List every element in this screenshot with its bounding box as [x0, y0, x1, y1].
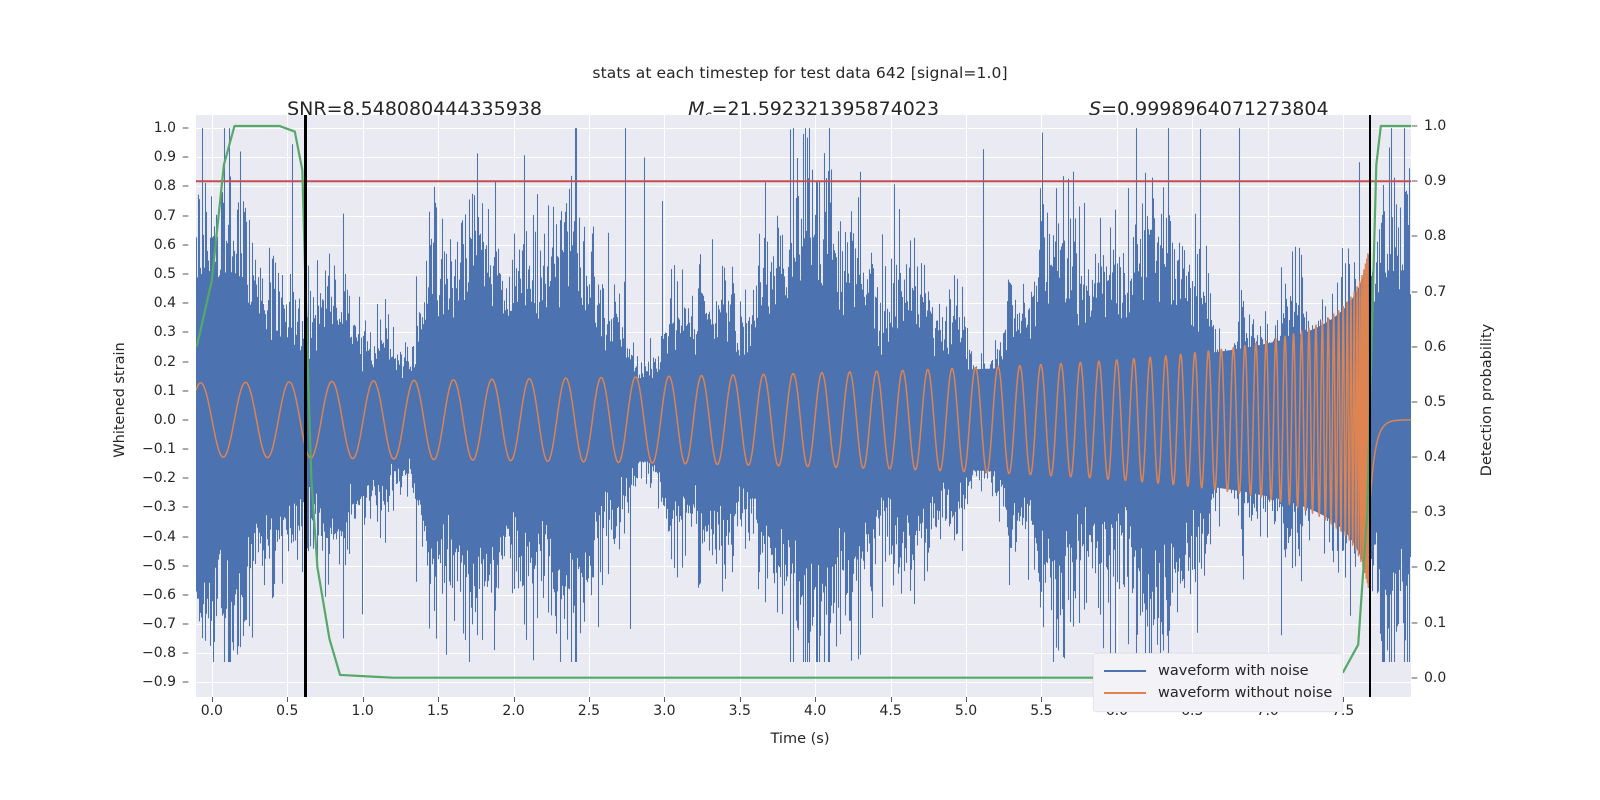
- legend-color-swatch: [1104, 692, 1146, 694]
- y-tick-label-left: 0.5–: [142, 266, 189, 282]
- y-tick-label-left: 0.7–: [142, 208, 189, 224]
- y-tick-label-left: 0.4–: [142, 295, 189, 311]
- y-axis-label-right: Detection probability: [1479, 324, 1495, 476]
- y-tick-label-right: –0.9: [1411, 173, 1446, 189]
- y-tick-label-left: −0.9–: [142, 674, 189, 690]
- x-tick-label: 3.0: [653, 703, 675, 719]
- legend-item-label: waveform with noise: [1158, 663, 1309, 679]
- y-axis-label-left: Whitened strain: [112, 342, 128, 457]
- chart-title: stats at each timestep for test data 642…: [0, 64, 1600, 82]
- y-tick-label-left: 0.6–: [142, 237, 189, 253]
- y-tick-label-left: −0.2–: [142, 470, 189, 486]
- plot-area: [196, 115, 1411, 697]
- x-tick-mark: [438, 697, 439, 702]
- x-tick-mark: [514, 697, 515, 702]
- y-tick-label-right: –0.2: [1411, 559, 1446, 575]
- y-tick-label-right: –0.5: [1411, 394, 1446, 410]
- x-tick-label: 1.5: [427, 703, 449, 719]
- vertical-marker-line: [1369, 115, 1371, 697]
- x-tick-label: 3.5: [729, 703, 751, 719]
- y-tick-label-left: 0.1–: [142, 383, 189, 399]
- y-tick-label-left: 0.9–: [142, 149, 189, 165]
- y-tick-label-right: –0.6: [1411, 339, 1446, 355]
- x-tick-label: 4.0: [804, 703, 826, 719]
- y-tick-label-left: −0.7–: [142, 616, 189, 632]
- legend-item-label: waveform without noise: [1158, 685, 1332, 701]
- y-tick-label-left: −0.4–: [142, 529, 189, 545]
- x-tick-label: 2.0: [502, 703, 524, 719]
- figure: stats at each timestep for test data 642…: [0, 0, 1600, 800]
- x-tick-mark: [891, 697, 892, 702]
- x-tick-mark: [212, 697, 213, 702]
- y-tick-label-left: 0.8–: [142, 178, 189, 194]
- y-tick-label-left: −0.8–: [142, 645, 189, 661]
- y-tick-label-left: 1.0–: [142, 120, 189, 136]
- y-tick-label-left: −0.5–: [142, 558, 189, 574]
- x-tick-label: 5.0: [955, 703, 977, 719]
- x-tick-mark: [815, 697, 816, 702]
- y-tick-label-left: 0.0–: [142, 412, 189, 428]
- x-tick-label: 5.5: [1030, 703, 1052, 719]
- y-tick-label-right: –1.0: [1411, 118, 1446, 134]
- x-tick-mark: [363, 697, 364, 702]
- x-tick-mark: [1041, 697, 1042, 702]
- x-tick-label: 1.0: [352, 703, 374, 719]
- x-tick-mark: [1343, 697, 1344, 702]
- x-tick-mark: [589, 697, 590, 702]
- y-tick-label-left: −0.1–: [142, 441, 189, 457]
- x-tick-label: 0.0: [201, 703, 223, 719]
- x-tick-mark: [287, 697, 288, 702]
- x-tick-label: 2.5: [578, 703, 600, 719]
- legend: waveform with noisewaveform without nois…: [1093, 653, 1343, 712]
- y-tick-label-left: 0.2–: [142, 354, 189, 370]
- y-tick-label-left: 0.3–: [142, 324, 189, 340]
- y-tick-label-right: –0.1: [1411, 615, 1446, 631]
- y-tick-label-left: −0.6–: [142, 587, 189, 603]
- x-tick-label: 4.5: [879, 703, 901, 719]
- legend-color-swatch: [1104, 670, 1146, 672]
- legend-item[interactable]: waveform without noise: [1104, 682, 1332, 704]
- overlay-layer: [196, 115, 1411, 697]
- x-axis-label: Time (s): [0, 731, 1600, 747]
- y-tick-label-right: –0.8: [1411, 228, 1446, 244]
- x-tick-mark: [664, 697, 665, 702]
- vertical-marker-line: [304, 115, 306, 697]
- y-tick-label-left: −0.3–: [142, 499, 189, 515]
- y-tick-label-right: –0.4: [1411, 449, 1446, 465]
- y-tick-label-right: –0.7: [1411, 284, 1446, 300]
- y-tick-label-right: –0.3: [1411, 504, 1446, 520]
- legend-item[interactable]: waveform with noise: [1104, 660, 1332, 682]
- x-tick-mark: [740, 697, 741, 702]
- x-tick-mark: [966, 697, 967, 702]
- y-tick-label-right: –0.0: [1411, 670, 1446, 686]
- x-tick-label: 0.5: [276, 703, 298, 719]
